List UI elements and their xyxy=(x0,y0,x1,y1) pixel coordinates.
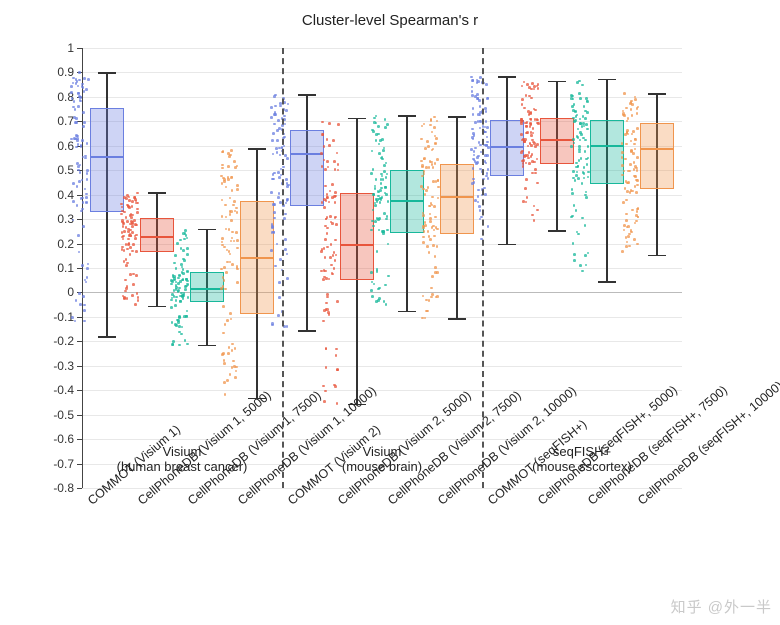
scatter-point xyxy=(326,232,329,235)
box-plot-box xyxy=(640,123,674,189)
chart-title: Cluster-level Spearman's r xyxy=(0,12,780,29)
scatter-point xyxy=(471,86,474,89)
scatter-point xyxy=(171,343,174,346)
scatter-point xyxy=(82,111,85,114)
scatter-point xyxy=(486,126,489,129)
scatter-point xyxy=(429,124,432,127)
scatter-point xyxy=(530,97,533,100)
scatter-point xyxy=(326,196,329,199)
scatter-point xyxy=(427,145,430,148)
scatter-point xyxy=(230,149,233,152)
scatter-point xyxy=(422,214,425,217)
scatter-point xyxy=(425,166,428,169)
scatter-point xyxy=(329,215,332,218)
scatter-point xyxy=(479,105,482,108)
scatter-point xyxy=(286,325,289,328)
scatter-point xyxy=(78,79,81,82)
scatter-point xyxy=(72,106,75,109)
whisker-cap-lower xyxy=(548,230,566,231)
scatter-point xyxy=(623,229,626,232)
scatter-point xyxy=(537,87,540,90)
scatter-point xyxy=(277,119,280,122)
scatter-point xyxy=(222,332,225,335)
y-axis-tick-label: 0 xyxy=(40,285,74,299)
scatter-point xyxy=(385,176,388,179)
scatter-point xyxy=(382,178,385,181)
scatter-point xyxy=(521,98,524,101)
scatter-point xyxy=(537,83,540,86)
scatter-point xyxy=(127,230,130,233)
scatter-point xyxy=(224,393,227,396)
scatter-point xyxy=(86,172,89,175)
scatter-point xyxy=(223,180,226,183)
scatter-point xyxy=(586,128,589,131)
scatter-point xyxy=(334,259,337,262)
scatter-point xyxy=(129,234,132,237)
scatter-point xyxy=(531,214,534,217)
scatter-point xyxy=(134,303,137,306)
scatter-point xyxy=(75,121,78,124)
scatter-point xyxy=(86,267,89,270)
scatter-point xyxy=(184,339,187,342)
scatter-point xyxy=(236,281,239,284)
scatter-point xyxy=(235,370,238,373)
scatter-point xyxy=(374,220,377,223)
scatter-point xyxy=(634,222,637,225)
scatter-point xyxy=(70,91,73,94)
scatter-point xyxy=(175,299,178,302)
scatter-point xyxy=(287,103,290,106)
scatter-point xyxy=(233,160,236,163)
scatter-point xyxy=(587,176,590,179)
scatter-point xyxy=(223,266,226,269)
scatter-point xyxy=(236,268,239,271)
scatter-point xyxy=(227,165,230,168)
scatter-point xyxy=(223,381,226,384)
scatter-point xyxy=(523,155,526,158)
scatter-point xyxy=(86,142,89,145)
scatter-point xyxy=(578,151,581,154)
scatter-point xyxy=(635,191,638,194)
scatter-point xyxy=(73,100,76,103)
scatter-point xyxy=(370,271,373,274)
median-line xyxy=(590,145,624,147)
scatter-point xyxy=(273,172,276,175)
scatter-point xyxy=(230,219,233,222)
scatter-point xyxy=(433,229,436,232)
scatter-point xyxy=(372,168,375,171)
scatter-point xyxy=(636,127,639,130)
y-axis-tick-label: 0.3 xyxy=(40,212,74,226)
scatter-point xyxy=(134,237,137,240)
scatter-point xyxy=(583,166,586,169)
scatter-point xyxy=(226,379,229,382)
scatter-point xyxy=(575,174,578,177)
scatter-point xyxy=(235,231,238,234)
scatter-point xyxy=(572,170,575,173)
scatter-point xyxy=(78,180,81,183)
scatter-point xyxy=(521,85,524,88)
scatter-point xyxy=(236,184,239,187)
scatter-point xyxy=(185,278,188,281)
scatter-point xyxy=(76,137,79,140)
scatter-point xyxy=(185,315,188,318)
scatter-point xyxy=(228,346,231,349)
scatter-point xyxy=(377,125,380,128)
scatter-point xyxy=(231,366,234,369)
scatter-point xyxy=(186,310,189,313)
scatter-point xyxy=(333,267,336,270)
scatter-point xyxy=(70,85,73,88)
scatter-point xyxy=(336,152,339,155)
scatter-point xyxy=(378,229,381,232)
scatter-point xyxy=(328,201,331,204)
scatter-point xyxy=(437,197,440,200)
scatter-point xyxy=(231,176,234,179)
scatter-point xyxy=(320,152,323,155)
scatter-point xyxy=(285,178,288,181)
whisker-cap-lower xyxy=(298,330,316,331)
scatter-point xyxy=(630,108,633,111)
scatter-point xyxy=(286,157,289,160)
scatter-point xyxy=(374,187,377,190)
scatter-point xyxy=(581,84,584,87)
scatter-point xyxy=(633,175,636,178)
scatter-point xyxy=(276,129,279,132)
scatter-point xyxy=(229,197,232,200)
scatter-point xyxy=(434,266,437,269)
scatter-point xyxy=(472,138,475,141)
scatter-point xyxy=(325,302,328,305)
scatter-point xyxy=(380,157,383,160)
chart-root: Cluster-level Spearman's r 10.90.80.70.6… xyxy=(0,0,780,625)
scatter-point xyxy=(379,201,382,204)
scatter-point xyxy=(434,255,437,258)
scatter-point xyxy=(178,344,181,347)
y-axis-tick-label: 0.4 xyxy=(40,188,74,202)
whisker-cap-upper xyxy=(498,76,516,77)
box-plot-box xyxy=(440,164,474,234)
scatter-point xyxy=(631,209,634,212)
y-axis-tick-label: 0.7 xyxy=(40,114,74,128)
gridline xyxy=(82,488,682,489)
scatter-point xyxy=(585,196,588,199)
scatter-point xyxy=(479,114,482,117)
box-plot-box xyxy=(140,218,174,252)
scatter-point xyxy=(83,304,86,307)
scatter-point xyxy=(236,247,239,250)
scatter-point xyxy=(372,193,375,196)
scatter-point xyxy=(321,133,324,136)
scatter-point xyxy=(384,284,387,287)
scatter-point xyxy=(378,152,381,155)
scatter-point xyxy=(579,118,582,121)
scatter-point xyxy=(572,242,575,245)
scatter-point xyxy=(433,126,436,129)
scatter-point xyxy=(225,216,228,219)
scatter-point xyxy=(628,245,631,248)
scatter-point xyxy=(375,115,378,118)
y-axis-tick-label: 0.1 xyxy=(40,261,74,275)
scatter-point xyxy=(74,108,77,111)
scatter-point xyxy=(274,105,277,108)
y-axis-tick-label: -0.3 xyxy=(40,359,74,373)
scatter-point xyxy=(427,186,430,189)
scatter-point xyxy=(525,162,528,165)
scatter-point xyxy=(271,139,274,142)
scatter-point xyxy=(423,158,426,161)
scatter-point xyxy=(272,153,275,156)
scatter-point xyxy=(636,179,639,182)
scatter-point xyxy=(187,296,190,299)
scatter-point xyxy=(633,238,636,241)
scatter-point xyxy=(127,205,130,208)
scatter-point xyxy=(484,193,487,196)
scatter-point xyxy=(171,321,174,324)
scatter-point xyxy=(431,196,434,199)
scatter-point xyxy=(376,250,379,253)
median-line xyxy=(390,200,424,202)
scatter-point xyxy=(324,390,327,393)
scatter-point xyxy=(179,300,182,303)
scatter-point xyxy=(478,205,481,208)
scatter-point xyxy=(232,360,235,363)
scatter-point xyxy=(374,204,377,207)
median-line xyxy=(440,196,474,198)
scatter-point xyxy=(526,196,529,199)
scatter-point xyxy=(82,225,85,228)
scatter-point xyxy=(179,239,182,242)
scatter-point xyxy=(432,166,435,169)
scatter-point xyxy=(186,253,189,256)
box-plot-box xyxy=(290,130,324,206)
scatter-point xyxy=(337,123,340,126)
y-axis-tick-label: 1 xyxy=(40,41,74,55)
scatter-point xyxy=(634,98,637,101)
scatter-point xyxy=(533,88,536,91)
scatter-point xyxy=(223,279,226,282)
scatter-point xyxy=(531,82,534,85)
scatter-point xyxy=(586,100,589,103)
scatter-point xyxy=(272,178,275,181)
scatter-point xyxy=(530,134,533,137)
scatter-point xyxy=(577,128,580,131)
scatter-point xyxy=(436,158,439,161)
scatter-point xyxy=(83,121,86,124)
scatter-point xyxy=(323,309,326,312)
scatter-point xyxy=(234,347,237,350)
scatter-point xyxy=(424,224,427,227)
scatter-point xyxy=(574,179,577,182)
scatter-point xyxy=(379,139,382,142)
scatter-point xyxy=(331,183,334,186)
scatter-point xyxy=(536,158,539,161)
scatter-point xyxy=(122,225,125,228)
whisker-cap-lower xyxy=(198,345,216,346)
scatter-point xyxy=(231,189,234,192)
scatter-point xyxy=(170,283,173,286)
scatter-point xyxy=(273,211,276,214)
scatter-point xyxy=(136,211,139,214)
whisker-cap-lower xyxy=(498,244,516,245)
scatter-point xyxy=(636,243,639,246)
scatter-point xyxy=(120,213,123,216)
scatter-point xyxy=(84,157,87,160)
scatter-point xyxy=(326,246,329,249)
scatter-point xyxy=(332,139,335,142)
scatter-point xyxy=(184,288,187,291)
scatter-point xyxy=(335,354,338,357)
scatter-point xyxy=(176,242,179,245)
scatter-point xyxy=(433,205,436,208)
scatter-point xyxy=(86,178,89,181)
scatter-point xyxy=(335,223,338,226)
scatter-point xyxy=(579,122,582,125)
scatter-point xyxy=(429,217,432,220)
scatter-point xyxy=(430,296,433,299)
scatter-point xyxy=(284,238,287,241)
whisker-cap-upper xyxy=(148,192,166,193)
box-plot-box xyxy=(490,120,524,176)
scatter-point xyxy=(424,193,427,196)
gridline xyxy=(82,317,682,318)
y-axis-tick-label: 0.6 xyxy=(40,139,74,153)
scatter-point xyxy=(426,140,429,143)
scatter-point xyxy=(486,136,489,139)
scatter-point xyxy=(384,118,387,121)
scatter-point xyxy=(577,177,580,180)
scatter-point xyxy=(477,80,480,83)
scatter-point xyxy=(434,216,437,219)
scatter-point xyxy=(131,205,134,208)
scatter-point xyxy=(523,107,526,110)
scatter-point xyxy=(71,97,74,100)
scatter-point xyxy=(523,140,526,143)
scatter-point xyxy=(583,105,586,108)
scatter-point xyxy=(375,139,378,142)
scatter-point xyxy=(323,400,326,403)
scatter-point xyxy=(630,101,633,104)
scatter-point xyxy=(371,295,374,298)
scatter-point xyxy=(322,385,325,388)
scatter-point xyxy=(175,284,178,287)
scatter-point xyxy=(76,185,79,188)
scatter-point xyxy=(128,242,131,245)
scatter-point xyxy=(336,300,339,303)
scatter-point xyxy=(336,402,339,405)
scatter-point xyxy=(78,251,81,254)
scatter-point xyxy=(334,201,337,204)
whisker-cap-upper xyxy=(598,79,616,80)
scatter-point xyxy=(584,224,587,227)
scatter-point xyxy=(276,139,279,142)
scatter-point xyxy=(434,162,437,165)
y-axis-tick-label: -0.2 xyxy=(40,334,74,348)
scatter-point xyxy=(632,152,635,155)
median-line xyxy=(140,236,174,238)
scatter-point xyxy=(334,239,337,242)
scatter-point xyxy=(221,164,224,167)
scatter-point xyxy=(131,294,134,297)
scatter-point xyxy=(275,147,278,150)
scatter-point xyxy=(131,250,134,253)
scatter-point xyxy=(329,256,332,259)
scatter-point xyxy=(181,294,184,297)
whisker-cap-upper xyxy=(198,229,216,230)
scatter-point xyxy=(584,110,587,113)
gridline xyxy=(82,72,682,73)
scatter-point xyxy=(182,297,185,300)
scatter-point xyxy=(386,229,389,232)
scatter-point xyxy=(222,177,225,180)
scatter-point xyxy=(629,163,632,166)
y-axis-tick-label: 0.5 xyxy=(40,163,74,177)
scatter-point xyxy=(570,145,573,148)
scatter-point xyxy=(187,284,190,287)
scatter-point xyxy=(330,264,333,267)
scatter-point xyxy=(436,295,439,298)
scatter-point xyxy=(632,130,635,133)
median-line xyxy=(190,288,224,290)
scatter-point xyxy=(377,288,380,291)
scatter-point xyxy=(323,198,326,201)
scatter-point xyxy=(276,243,279,246)
scatter-point xyxy=(471,79,474,82)
scatter-point xyxy=(176,319,179,322)
scatter-point xyxy=(428,299,431,302)
scatter-point xyxy=(583,177,586,180)
scatter-point xyxy=(326,296,329,299)
scatter-point xyxy=(321,165,324,168)
scatter-point xyxy=(170,306,173,309)
scatter-point xyxy=(83,320,86,323)
scatter-point xyxy=(82,125,85,128)
scatter-point xyxy=(381,196,384,199)
scatter-point xyxy=(178,325,181,328)
scatter-point xyxy=(136,208,139,211)
scatter-point xyxy=(478,99,481,102)
scatter-point xyxy=(424,317,427,320)
box-plot-box xyxy=(540,118,574,164)
scatter-point xyxy=(78,71,81,74)
scatter-point xyxy=(584,117,587,120)
scatter-point xyxy=(577,233,580,236)
scatter-point xyxy=(627,235,630,238)
scatter-point xyxy=(226,319,229,322)
scatter-point xyxy=(174,254,177,257)
scatter-point xyxy=(470,76,473,79)
scatter-point xyxy=(77,105,80,108)
whisker-cap-upper xyxy=(348,118,366,119)
scatter-point xyxy=(271,324,274,327)
scatter-point xyxy=(224,288,227,291)
scatter-point xyxy=(286,253,289,256)
scatter-point xyxy=(274,265,277,268)
scatter-point xyxy=(75,78,78,81)
scatter-point xyxy=(77,165,80,168)
scatter-point xyxy=(529,112,532,115)
scatter-point xyxy=(130,213,133,216)
scatter-point xyxy=(173,262,176,265)
scatter-point xyxy=(182,249,185,252)
scatter-point xyxy=(425,189,428,192)
scatter-point xyxy=(132,283,135,286)
scatter-point xyxy=(222,276,225,279)
scatter-point xyxy=(125,243,128,246)
scatter-point xyxy=(422,241,425,244)
scatter-point xyxy=(270,191,273,194)
scatter-point xyxy=(486,141,489,144)
